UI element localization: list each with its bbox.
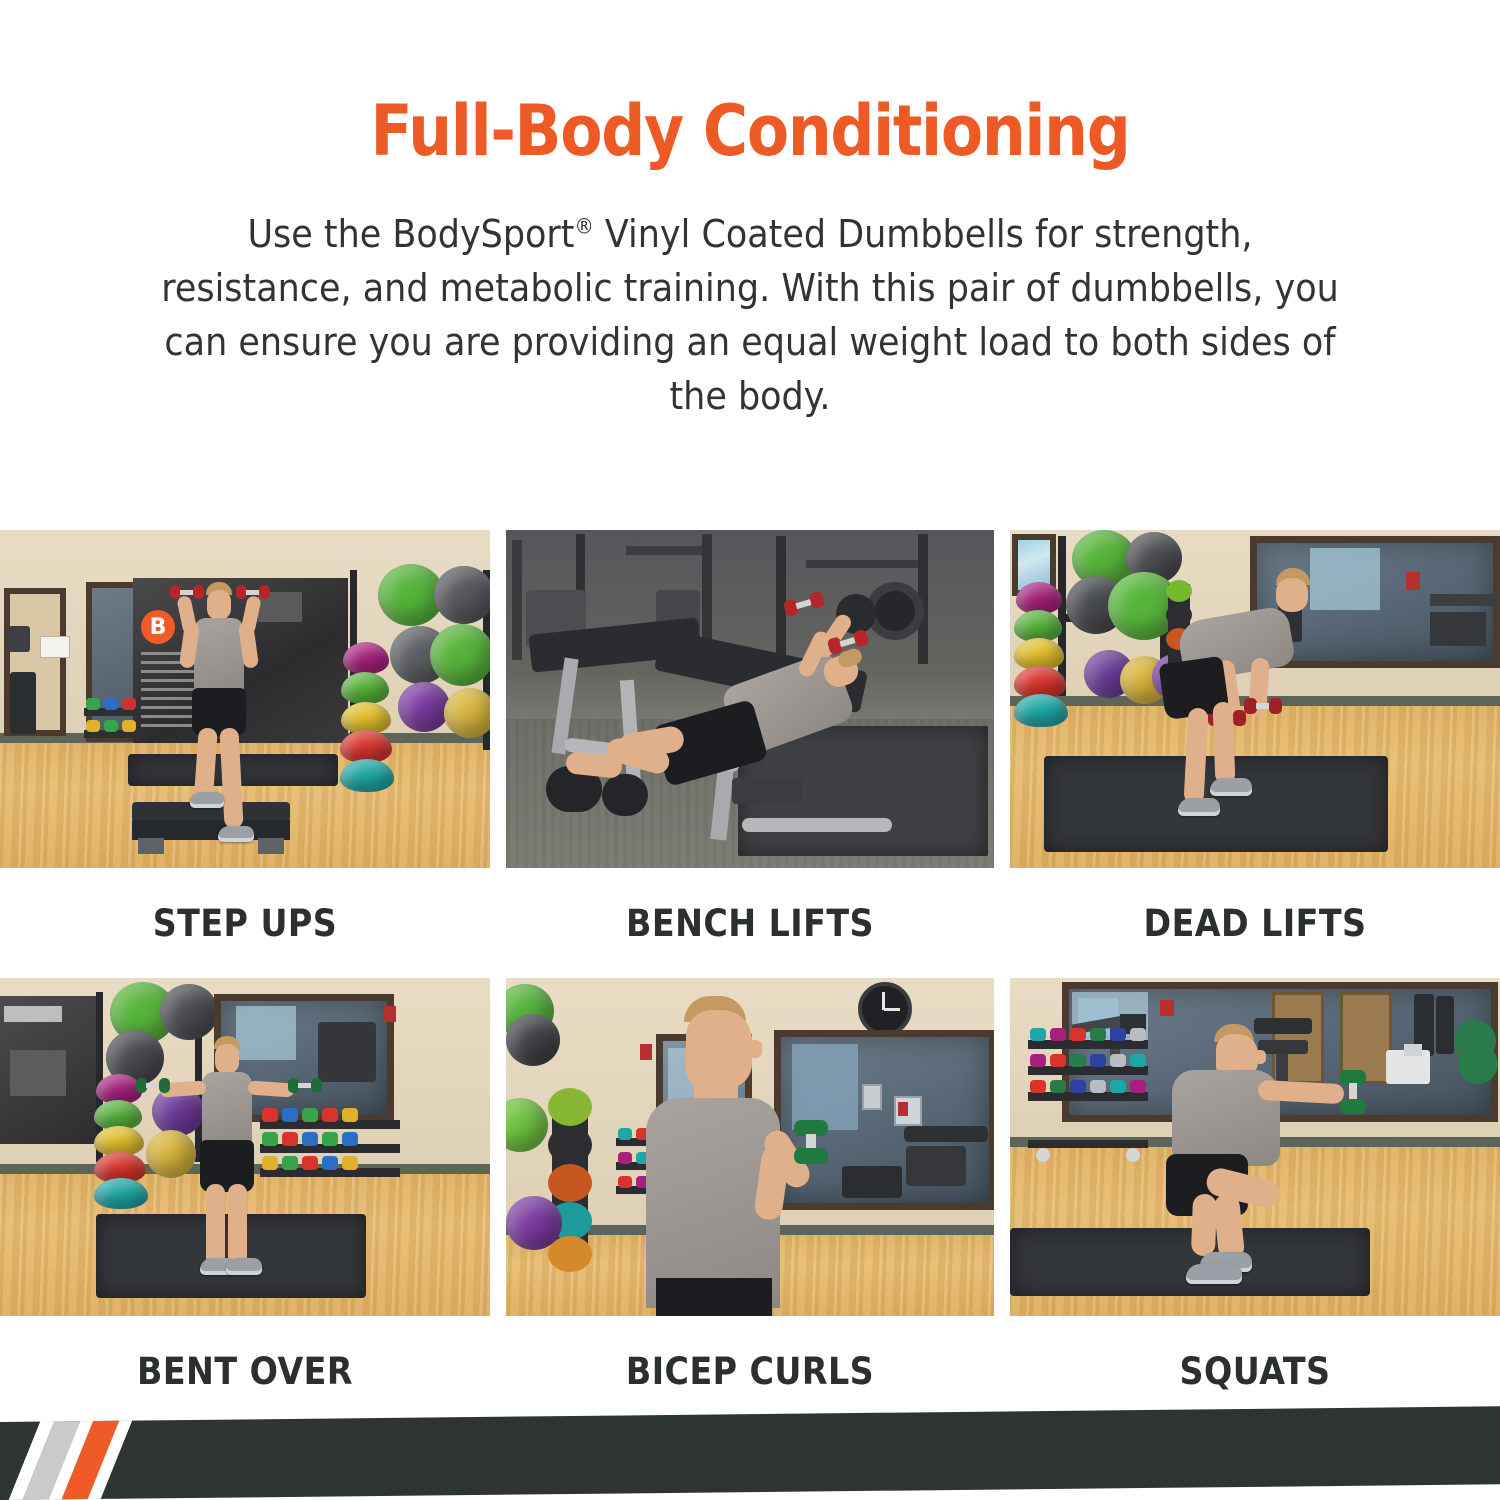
grid-gap xyxy=(994,978,1010,1426)
exercise-caption-bench-lifts: BENCH LIFTS xyxy=(530,868,969,978)
exercise-photo-dead-lifts xyxy=(1010,530,1500,868)
exercise-row-1: B xyxy=(0,530,1500,978)
exercise-card-bench-lifts[interactable]: BENCH LIFTS xyxy=(506,530,994,978)
exercise-caption-bicep-curls: BICEP CURLS xyxy=(530,1316,969,1426)
dumbbell-icon xyxy=(1340,1070,1366,1114)
registered-trademark-icon: ® xyxy=(574,214,593,238)
grid-gap xyxy=(994,530,1010,978)
footer-bar xyxy=(0,1406,1500,1500)
exercise-photo-bench-lifts xyxy=(506,530,994,868)
bodysport-badge-icon: B xyxy=(141,610,175,644)
exercise-photo-step-ups: B xyxy=(0,530,490,868)
exercise-photo-bicep-curls xyxy=(506,978,994,1316)
exercise-photo-bent-over xyxy=(0,978,490,1316)
exercise-row-2: BENT OVER xyxy=(0,978,1500,1426)
exercise-caption-step-ups: STEP UPS xyxy=(25,868,466,978)
grid-gap xyxy=(490,978,506,1426)
exercise-caption-dead-lifts: DEAD LIFTS xyxy=(1035,868,1476,978)
exercise-caption-bent-over: BENT OVER xyxy=(25,1316,466,1426)
grid-gap xyxy=(490,530,506,978)
exercise-grid: B xyxy=(0,530,1500,1426)
exercise-card-step-ups[interactable]: B xyxy=(0,530,490,978)
page-title: Full-Body Conditioning xyxy=(90,96,1410,166)
exercise-photo-squats xyxy=(1010,978,1500,1316)
dumbbell-icon xyxy=(170,585,204,599)
dumbbell-icon xyxy=(794,1120,828,1164)
exercise-card-dead-lifts[interactable]: DEAD LIFTS xyxy=(1010,530,1500,978)
header: Full-Body Conditioning Use the BodySport… xyxy=(0,0,1500,424)
exercise-card-squats[interactable]: SQUATS xyxy=(1010,978,1500,1426)
intro-text-before: Use the BodySport xyxy=(247,212,574,256)
exercise-card-bent-over[interactable]: BENT OVER xyxy=(0,978,490,1426)
intro-paragraph: Use the BodySport® Vinyl Coated Dumbbell… xyxy=(152,208,1348,424)
exercise-card-bicep-curls[interactable]: BICEP CURLS xyxy=(506,978,994,1426)
